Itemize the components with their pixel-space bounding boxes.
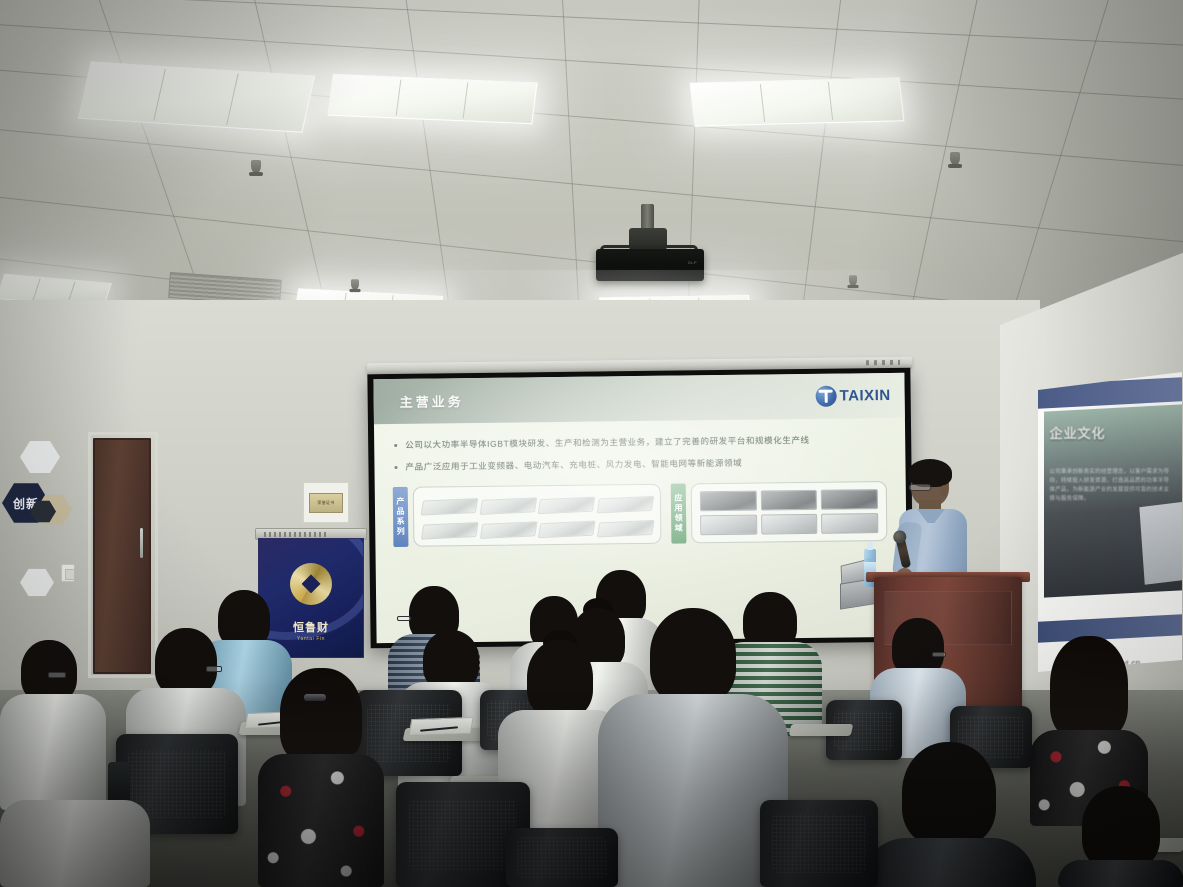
audience-member	[258, 668, 384, 887]
wall-poster: 企业文化 公司秉承创新务实的经营理念，以客户需求为导向，持续投入研发资源，打造高…	[1038, 372, 1182, 672]
banner-company-name-en: Yantai Fin	[297, 636, 325, 642]
housing-vents-icon	[866, 360, 900, 365]
product-thumb	[596, 520, 653, 538]
wall-plaque-text: 荣誉证书	[309, 493, 343, 513]
audience-head	[1082, 786, 1160, 870]
slide-bullet: 公司以大功率半导体IGBT模块研发、生产和检测为主营业务，建立了完善的研发平台和…	[394, 432, 885, 453]
application-thumb	[700, 491, 757, 512]
application-fields-box	[691, 481, 888, 543]
audience-member	[0, 640, 106, 810]
light-switch[interactable]	[61, 564, 75, 582]
door-handle-icon[interactable]	[140, 528, 143, 558]
presenter-ear	[940, 485, 948, 496]
presenter-hair	[908, 459, 952, 487]
audience-head	[527, 640, 593, 718]
application-thumb	[700, 515, 757, 536]
presenter-glasses-icon	[909, 484, 931, 491]
audience-head	[902, 742, 996, 846]
audience-chair[interactable]	[506, 828, 618, 887]
slide-title: 主营业务	[400, 391, 464, 411]
product-series-tag: 产品系列	[393, 487, 409, 547]
product-thumb	[421, 498, 478, 516]
banner-logo-icon	[290, 563, 332, 605]
application-fields-panel: 应用领域	[671, 481, 888, 544]
audience-head	[650, 608, 736, 704]
bullet-dot-icon	[394, 466, 397, 469]
hair-clip-icon	[304, 694, 326, 701]
audience-torso	[862, 838, 1036, 887]
wall-plaque: 荣誉证书	[303, 482, 349, 523]
audience-glasses-icon	[48, 672, 66, 678]
ceiling-projector: DLP	[596, 249, 704, 281]
bullet-dot-icon	[394, 444, 397, 447]
chair-tablet-arm	[789, 724, 854, 736]
slide-bullet-text: 产品广泛应用于工业变频器、电动汽车、充电桩、风力发电、智能电网等新能源领域	[405, 456, 742, 475]
audience-member	[0, 800, 150, 887]
product-thumb	[421, 522, 478, 540]
audience-torso	[0, 800, 150, 887]
audience-hair	[1050, 636, 1128, 740]
audience-torso	[1058, 860, 1183, 887]
audience-head	[423, 630, 479, 690]
notepad	[408, 717, 473, 736]
audience-glasses-icon	[206, 666, 222, 672]
audience-torso	[258, 754, 384, 887]
banner-company-name-cn: 恒鲁财	[293, 619, 329, 635]
product-thumb	[538, 521, 595, 539]
application-thumb	[821, 513, 878, 534]
audience-glasses-icon	[932, 652, 946, 657]
poster-heading: 企业文化	[1050, 423, 1106, 442]
audience-head	[21, 640, 77, 702]
conference-room-scene: DLP 创新 荣誉证书 企业文化 公司秉承创新务实的经营理念，以客户需求为导向，…	[0, 0, 1183, 887]
poster-inset-image	[1139, 501, 1182, 584]
slide-header: 主营业务 TAIXIN	[373, 373, 905, 424]
audience-torso	[0, 694, 106, 810]
application-thumb	[821, 489, 878, 510]
poster-body-text: 公司秉承创新务实的经营理念，以客户需求为导向，持续投入研发资源，打造高品质的功率…	[1050, 468, 1171, 504]
audience-hair	[280, 668, 362, 764]
slide-bullet: 产品广泛应用于工业变频器、电动汽车、充电桩、风力发电、智能电网等新能源领域	[394, 454, 885, 475]
brand-logo: TAIXIN	[815, 385, 890, 407]
taixin-mark-icon	[815, 386, 836, 407]
application-thumb	[760, 490, 817, 511]
audience-member	[862, 742, 1036, 887]
application-thumb	[761, 514, 818, 535]
slide-panels: 产品系列 应用领域	[393, 481, 891, 547]
product-series-box	[413, 484, 662, 547]
projector-label: DLP	[688, 260, 697, 265]
product-thumb	[538, 497, 595, 515]
audience-member	[1058, 786, 1183, 887]
application-fields-tag: 应用领域	[671, 483, 687, 543]
audience-chair[interactable]	[760, 800, 878, 887]
product-thumb	[479, 521, 536, 539]
audience-head	[155, 628, 217, 696]
product-thumb	[479, 497, 536, 515]
product-series-panel: 产品系列	[393, 484, 662, 547]
product-thumb	[596, 496, 653, 514]
slide-bullet-text: 公司以大功率半导体IGBT模块研发、生产和检测为主营业务，建立了完善的研发平台和…	[405, 433, 810, 453]
audience-glasses-icon	[397, 616, 411, 621]
brand-name: TAIXIN	[839, 387, 890, 405]
